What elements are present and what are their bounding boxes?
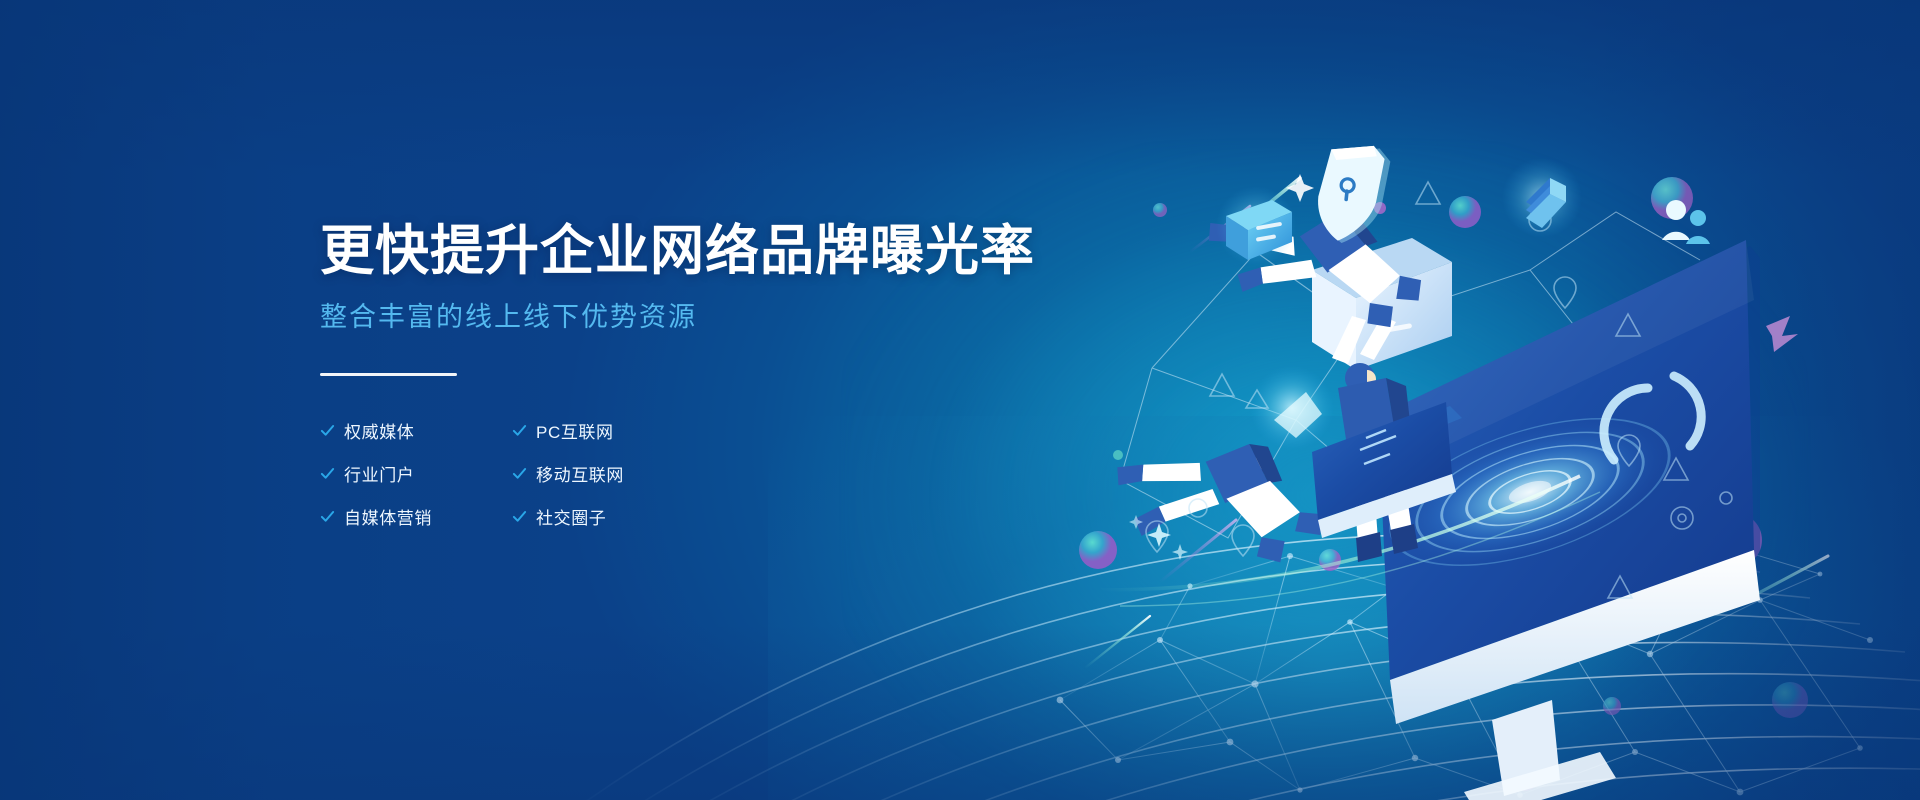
feature-item-4: 自媒体营销: [320, 500, 512, 534]
check-icon: [512, 466, 527, 481]
hero-banner: 更快提升企业网络品牌曝光率 整合丰富的线上线下优势资源 权威媒体 PC互联网: [0, 0, 1920, 800]
feature-label: 行业门户: [344, 461, 414, 486]
check-icon: [512, 509, 527, 524]
banner-content: 更快提升企业网络品牌曝光率 整合丰富的线上线下优势资源 权威媒体 PC互联网: [320, 220, 1080, 534]
feature-label: 权威媒体: [344, 418, 414, 443]
feature-label: 社交圈子: [536, 504, 606, 529]
check-icon: [512, 423, 527, 438]
check-icon: [320, 423, 335, 438]
feature-list: 权威媒体 PC互联网 行业门户 移动互联网: [320, 414, 740, 534]
check-icon: [320, 466, 335, 481]
banner-subheadline: 整合丰富的线上线下优势资源: [320, 300, 1080, 335]
feature-item-0: 权威媒体: [320, 414, 512, 448]
feature-item-1: PC互联网: [512, 414, 740, 448]
feature-label: PC互联网: [536, 418, 614, 443]
feature-item-3: 移动互联网: [512, 457, 740, 491]
check-icon: [320, 509, 335, 524]
banner-headline: 更快提升企业网络品牌曝光率: [320, 220, 1080, 284]
feature-label: 移动互联网: [536, 461, 624, 486]
divider-rule: [320, 373, 457, 376]
feature-item-2: 行业门户: [320, 457, 512, 491]
feature-item-5: 社交圈子: [512, 500, 740, 534]
feature-label: 自媒体营销: [344, 504, 432, 529]
